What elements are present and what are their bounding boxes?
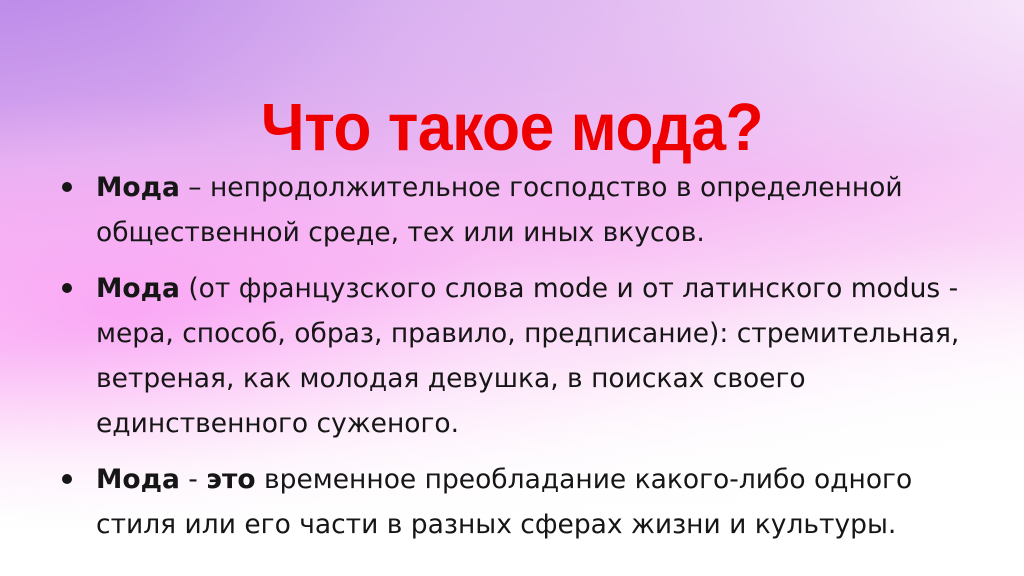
bullet-emphasis-3: это <box>206 464 255 495</box>
bullet-list: Мода – непродолжительное господство в оп… <box>0 165 1024 547</box>
bullet-dot-icon <box>62 182 72 192</box>
bullet-separator-3: - <box>180 464 206 495</box>
bullet-dot-icon <box>62 283 72 293</box>
bullet-item-1: Мода – непродолжительное господство в оп… <box>0 165 1024 255</box>
bullet-term-1: Мода <box>96 172 180 203</box>
bullet-term-3: Мода <box>96 464 180 495</box>
bullet-definition-1: непродолжительное господство в определен… <box>96 172 903 248</box>
bullet-text-1: Мода – непродолжительное господство в оп… <box>96 165 976 255</box>
presentation-slide: Что такое мода? Мода – непродолжительное… <box>0 0 1024 576</box>
bullet-item-3: Мода - это временное преобладание какого… <box>0 457 1024 547</box>
bullet-text-3: Мода - это временное преобладание какого… <box>96 457 976 547</box>
bullet-item-2: Мода (от французского слова mode и от ла… <box>0 266 1024 446</box>
bullet-text-2: Мода (от французского слова mode и от ла… <box>96 266 976 446</box>
bullet-separator-1: – <box>180 172 210 203</box>
bullet-definition-2: (от французского слова mode и от латинск… <box>96 273 959 439</box>
slide-title: Что такое мода? <box>36 94 988 162</box>
bullet-term-2: Мода <box>96 273 180 304</box>
slide-content: Что такое мода? Мода – непродолжительное… <box>0 0 1024 576</box>
bullet-dot-icon <box>62 474 72 484</box>
